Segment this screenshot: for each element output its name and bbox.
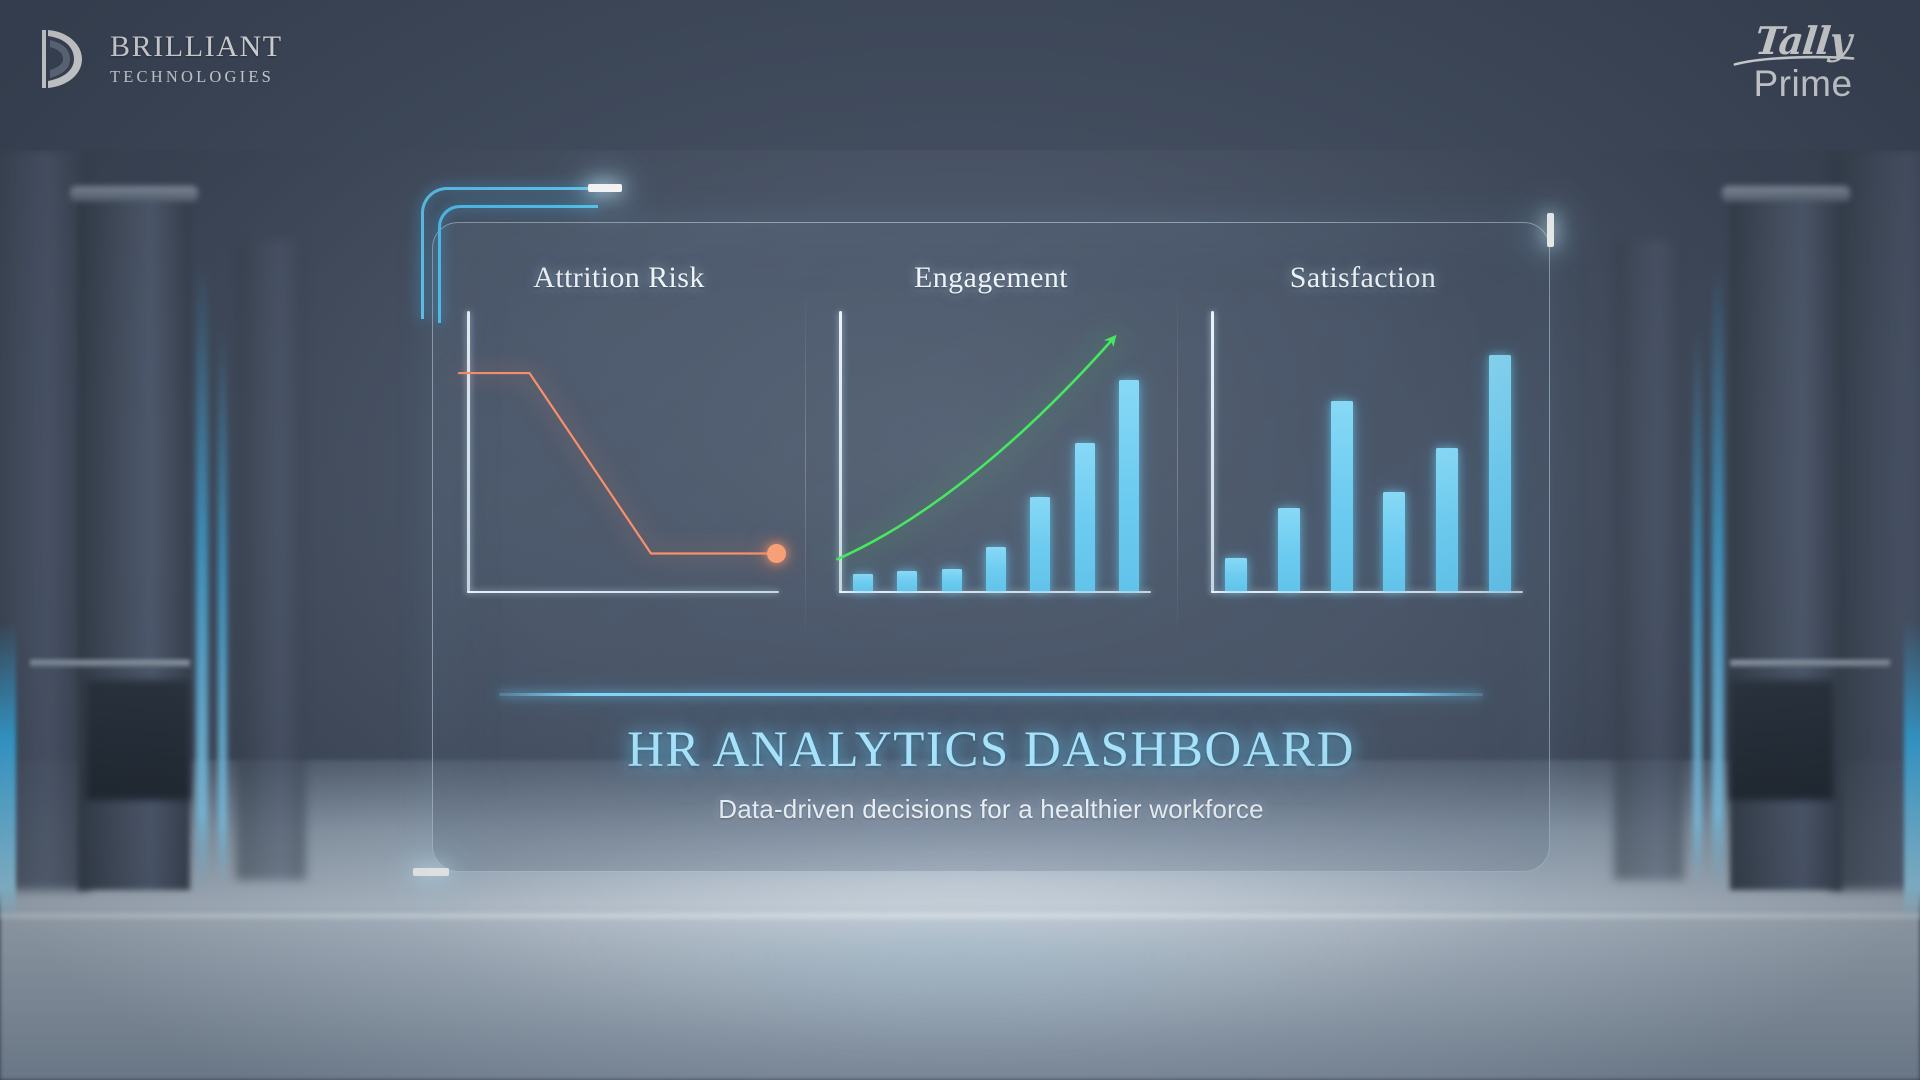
charts-row: Attrition Risk Engagement [433,243,1549,673]
pillar-glow-strip-right-outer [1904,620,1920,920]
pillar-glow-strip-right-inner [1712,260,1724,890]
pillar-glow-strip-left-outer [0,620,16,920]
background-pillar-left-third [236,240,306,880]
bar [1436,448,1458,590]
accent-dash-bottom-left [413,868,449,876]
tally-prime-logo: Tally Prime [1728,22,1878,104]
plot-engagement [831,311,1151,593]
pillar-cap-left [70,186,198,202]
chart-cell-attrition-risk[interactable]: Attrition Risk [433,243,805,673]
hologram-scene: BRILLIANT TECHNOLOGIES Tally Prime Attri… [0,0,1920,1080]
accent-dash-top [588,184,622,192]
brand-subtitle: TECHNOLOGIES [110,66,283,87]
dashboard-panel[interactable]: Attrition Risk Engagement [432,222,1550,872]
pillar-base-left [86,680,190,800]
chart-title-satisfaction: Satisfaction [1203,261,1523,295]
pillar-shelf-right [1730,660,1890,667]
pillar-glow-strip-left-inner [196,260,208,890]
floor-reflection [576,930,1344,1050]
pillar-glow-strip-right-mid [1693,330,1702,890]
bar [1489,355,1511,591]
top-banner: BRILLIANT TECHNOLOGIES Tally Prime [0,0,1920,150]
bar-series-satisfaction [1225,317,1511,591]
pillar-cap-right [1722,186,1850,202]
pillar-base-right [1730,680,1834,800]
chart-title-engagement: Engagement [831,261,1151,295]
bar [1383,492,1405,591]
x-axis [1211,591,1523,594]
page-subtitle: Data-driven decisions for a healthier wo… [433,794,1549,825]
tally-script-wordmark: Tally [1726,22,1880,60]
accent-dash-right [1547,213,1554,247]
chart-cell-satisfaction[interactable]: Satisfaction [1177,243,1549,673]
growth-arrow-icon [831,311,1151,593]
panel-footer: HR ANALYTICS DASHBOARD Data-driven decis… [433,721,1549,825]
chart-title-attrition-risk: Attrition Risk [459,261,779,295]
brand-name: BRILLIANT [110,31,283,63]
plot-satisfaction [1203,311,1523,593]
y-axis [1211,311,1214,593]
background-pillar-right-third [1614,240,1684,880]
line-series-attrition-risk [459,311,779,593]
pillar-glow-strip-left-mid [218,330,227,890]
brilliant-d-monogram-icon [36,26,94,92]
panel-divider [499,693,1483,696]
line-endpoint-marker [767,544,786,563]
page-title: HR ANALYTICS DASHBOARD [433,721,1549,780]
plot-attrition-risk [459,311,779,593]
bar [1225,558,1247,591]
pillar-shelf-left [30,660,190,667]
bar [1278,508,1300,590]
brand-wordmark: BRILLIANT TECHNOLOGIES [110,31,283,87]
tally-prime-wordmark: Prime [1728,65,1878,104]
bar [1331,401,1353,590]
chart-cell-engagement[interactable]: Engagement [805,243,1177,673]
brand-logo: BRILLIANT TECHNOLOGIES [36,26,283,92]
